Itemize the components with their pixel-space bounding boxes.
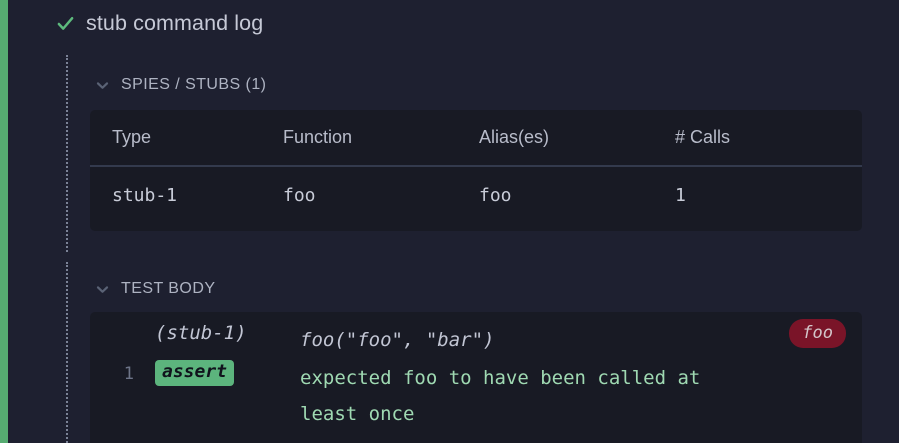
cell-aliases: foo [457,166,653,224]
spies-stubs-table: Type Function Alias(es) # Calls stub-1 f… [90,110,862,224]
test-title-row[interactable]: stub command log [56,6,263,40]
column-header-type[interactable]: Type [90,110,261,166]
chevron-down-icon [95,78,110,93]
command-method: assert [134,360,300,386]
tree-guide-line [66,55,68,252]
command-number: 1 [90,360,134,384]
command-message: foo("foo", "bar") [300,322,862,358]
tree-guide-line [66,262,68,443]
section-header-test-body[interactable]: TEST BODY [95,278,215,300]
page-title: stub command log [86,11,263,36]
section-label-test-body: TEST BODY [121,280,215,298]
command-log-row[interactable]: (stub-1) foo("foo", "bar") foo [90,312,862,360]
assert-badge: assert [155,360,234,386]
column-header-function[interactable]: Function [261,110,457,166]
command-number [90,322,134,326]
section-header-spies-stubs[interactable]: SPIES / STUBS (1) [95,74,266,96]
column-header-aliases[interactable]: Alias(es) [457,110,653,166]
section-label-spies-stubs: SPIES / STUBS (1) [121,76,266,94]
cell-type: stub-1 [90,166,261,224]
table-header-row: Type Function Alias(es) # Calls [90,110,862,166]
alias-badge[interactable]: foo [789,319,846,348]
command-message: expected foo to have been called at leas… [300,360,820,432]
cell-function: foo [261,166,457,224]
table-row[interactable]: stub-1 foo foo 1 [90,166,862,224]
spies-stubs-table-card: Type Function Alias(es) # Calls stub-1 f… [90,110,862,231]
test-body-card: (stub-1) foo("foo", "bar") foo 1 assert … [90,312,862,443]
command-method: (stub-1) [134,322,300,344]
test-status-rail [0,0,8,443]
cell-calls: 1 [653,166,862,224]
chevron-down-icon [95,282,110,297]
command-log-row[interactable]: 1 assert expected foo to have been calle… [90,360,862,432]
column-header-calls[interactable]: # Calls [653,110,862,166]
check-icon [56,14,75,33]
